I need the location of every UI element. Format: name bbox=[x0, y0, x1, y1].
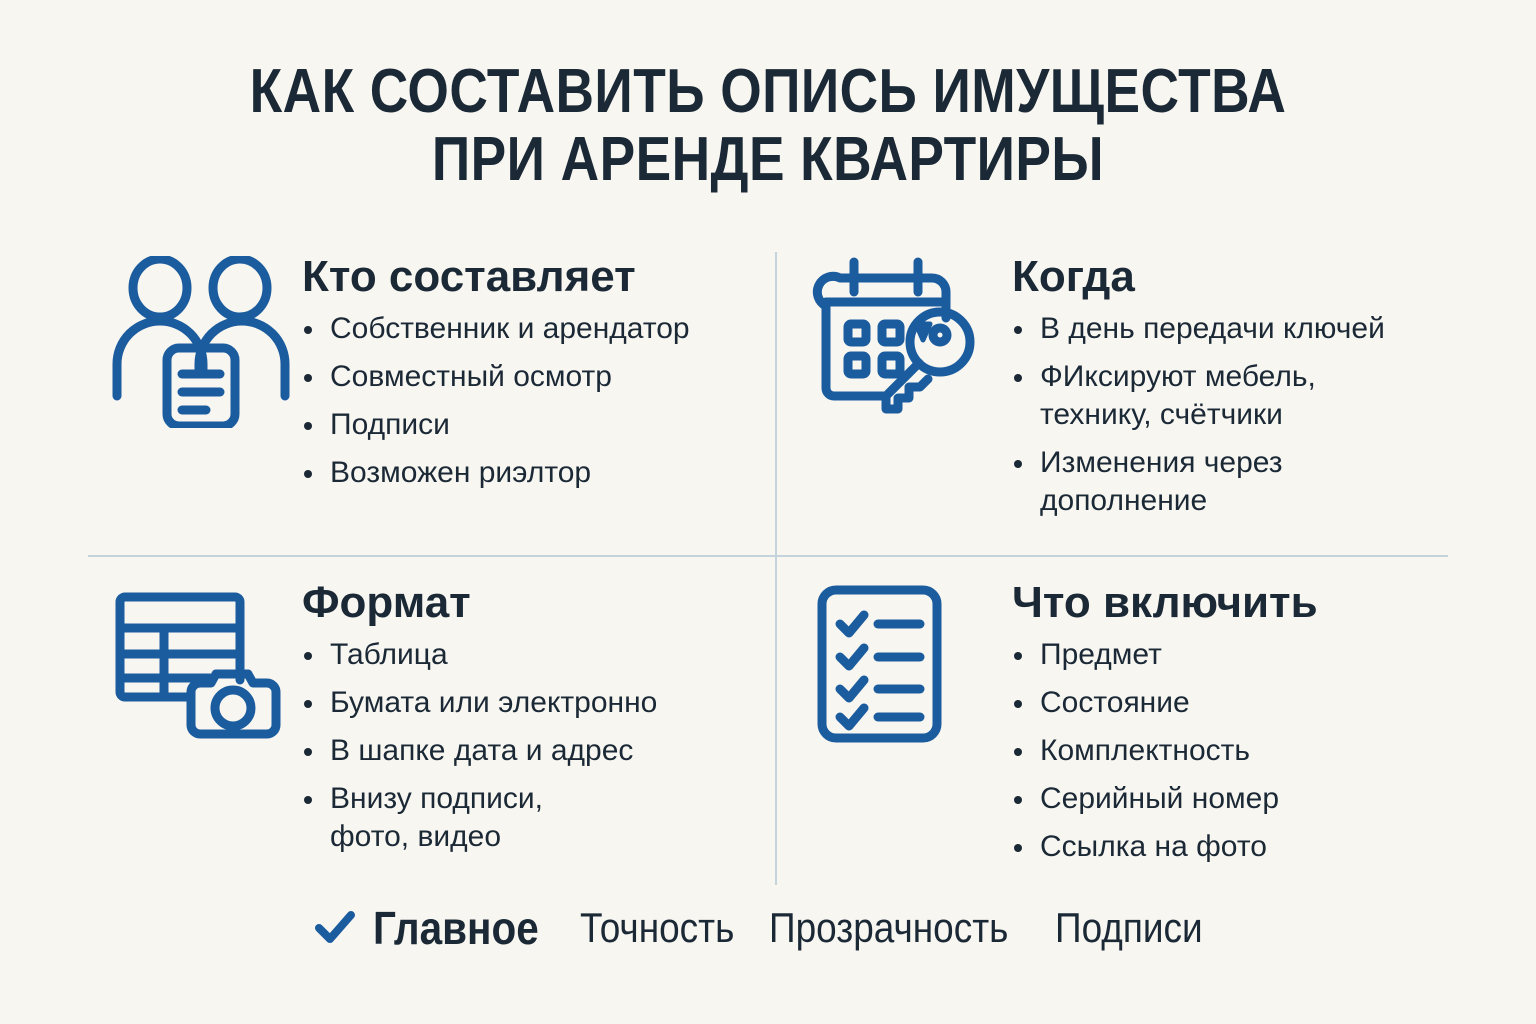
footer-tag-signatures: Подписи bbox=[1055, 902, 1203, 954]
list-item: Подписи bbox=[302, 406, 762, 444]
horizontal-divider bbox=[88, 555, 1448, 557]
list-item: Предмет bbox=[1012, 636, 1462, 674]
quadrant-bullet-list: В день передачи ключей ФИксируют мебель,… bbox=[1012, 310, 1462, 520]
list-item: Возможен риэлтор bbox=[302, 454, 762, 492]
quadrant-bullet-list: Собственник и арендатор Совместный осмот… bbox=[302, 310, 762, 492]
quadrant-format-body: Формат Таблица Бумата или электронно В ш… bbox=[302, 578, 762, 866]
quadrant-who-body: Кто составляет Собственник и арендатор С… bbox=[302, 252, 762, 502]
vertical-divider bbox=[775, 252, 777, 885]
check-icon bbox=[313, 908, 357, 948]
quadrant-bullet-list: Таблица Бумата или электронно В шапке да… bbox=[302, 636, 762, 856]
title-line-2: ПРИ АРЕНДЕ КВАРТИРЫ bbox=[108, 126, 1429, 194]
list-item: Собственник и арендатор bbox=[302, 310, 762, 348]
list-item: Комплектность bbox=[1012, 732, 1462, 770]
title-line-1: КАК СОСТАВИТЬ ОПИСЬ ИМУЩЕСТВА bbox=[108, 58, 1429, 126]
quadrant-format: Формат Таблица Бумата или электронно В ш… bbox=[112, 578, 762, 866]
quadrant-bullet-list: Предмет Состояние Комплектность Серийный… bbox=[1012, 636, 1462, 866]
quadrant-when: Когда В день передачи ключей ФИксируют м… bbox=[812, 252, 1462, 530]
list-item: Бумата или электронно bbox=[302, 684, 762, 722]
quadrant-heading: Что включить bbox=[1012, 578, 1462, 628]
quadrant-heading: Кто составляет bbox=[302, 252, 762, 302]
list-item: Состояние bbox=[1012, 684, 1462, 722]
footer-tag-transparency: Прозрачность bbox=[769, 902, 1008, 954]
list-item: ФИксируют мебель, технику, счётчики bbox=[1012, 358, 1462, 434]
list-item: Таблица bbox=[302, 636, 762, 674]
quadrant-heading: Когда bbox=[1012, 252, 1462, 302]
list-item: Изменения через дополнение bbox=[1012, 444, 1462, 520]
footer-tag-accuracy: Точность bbox=[580, 902, 734, 954]
quadrant-who-composes: Кто составляет Собственник и арендатор С… bbox=[112, 252, 762, 502]
quadrant-what-body: Что включить Предмет Состояние Комплектн… bbox=[1012, 578, 1462, 876]
calendar-key-icon bbox=[812, 252, 1012, 428]
list-item: В день передачи ключей bbox=[1012, 310, 1462, 348]
quadrant-when-body: Когда В день передачи ключей ФИксируют м… bbox=[1012, 252, 1462, 530]
quadrant-what-to-include: Что включить Предмет Состояние Комплектн… bbox=[812, 578, 1462, 876]
list-item: Совместный осмотр bbox=[302, 358, 762, 396]
list-item: В шапке дата и адрес bbox=[302, 732, 762, 770]
page-title: КАК СОСТАВИТЬ ОПИСЬ ИМУЩЕСТВА ПРИ АРЕНДЕ… bbox=[0, 58, 1536, 194]
infographic-canvas: КАК СОСТАВИТЬ ОПИСЬ ИМУЩЕСТВА ПРИ АРЕНДЕ… bbox=[0, 0, 1536, 1024]
checklist-icon bbox=[812, 578, 1012, 747]
two-people-document-icon bbox=[112, 252, 302, 428]
list-item: Внизу подписи, фото, видео bbox=[302, 780, 762, 856]
list-item: Ссылка на фото bbox=[1012, 828, 1462, 866]
table-camera-icon bbox=[112, 578, 302, 742]
footer-main-label: Главное bbox=[373, 902, 539, 954]
quadrant-heading: Формат bbox=[302, 578, 762, 628]
list-item: Серийный номер bbox=[1012, 780, 1462, 818]
footer-summary-bar: Главное Точность Прозрачность Подписи bbox=[0, 902, 1536, 954]
